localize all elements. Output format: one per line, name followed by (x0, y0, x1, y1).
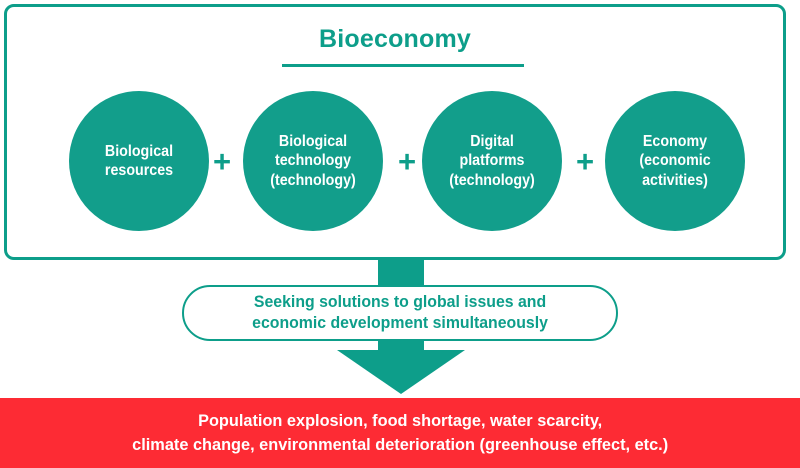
arrow-head (337, 350, 465, 394)
global-issues-text: Population explosion, food shortage, wat… (132, 409, 668, 457)
diagram-canvas: Bioeconomy Biological resources + Biolog… (0, 0, 800, 468)
component-label: Digital platforms (technology) (433, 132, 551, 190)
global-issues-banner: Population explosion, food shortage, wat… (0, 398, 800, 468)
component-circle-biological-technology: Biological technology (technology) (243, 91, 383, 231)
plus-operator-icon-1: + (207, 147, 237, 177)
component-circle-digital-platforms: Digital platforms (technology) (422, 91, 562, 231)
component-label: Biological technology (technology) (254, 132, 372, 190)
component-label: Biological resources (80, 142, 198, 181)
component-label: Economy (economic activities) (616, 132, 734, 190)
plus-operator-icon-2: + (392, 147, 422, 177)
title-underline (282, 64, 524, 67)
page-title: Bioeconomy (7, 27, 783, 52)
solution-callout: Seeking solutions to global issues and e… (182, 285, 618, 341)
bioeconomy-panel: Bioeconomy Biological resources + Biolog… (4, 4, 786, 260)
component-circle-economy: Economy (economic activities) (605, 91, 745, 231)
plus-operator-icon-3: + (570, 147, 600, 177)
solution-callout-text: Seeking solutions to global issues and e… (252, 292, 548, 334)
component-circle-biological-resources: Biological resources (69, 91, 209, 231)
